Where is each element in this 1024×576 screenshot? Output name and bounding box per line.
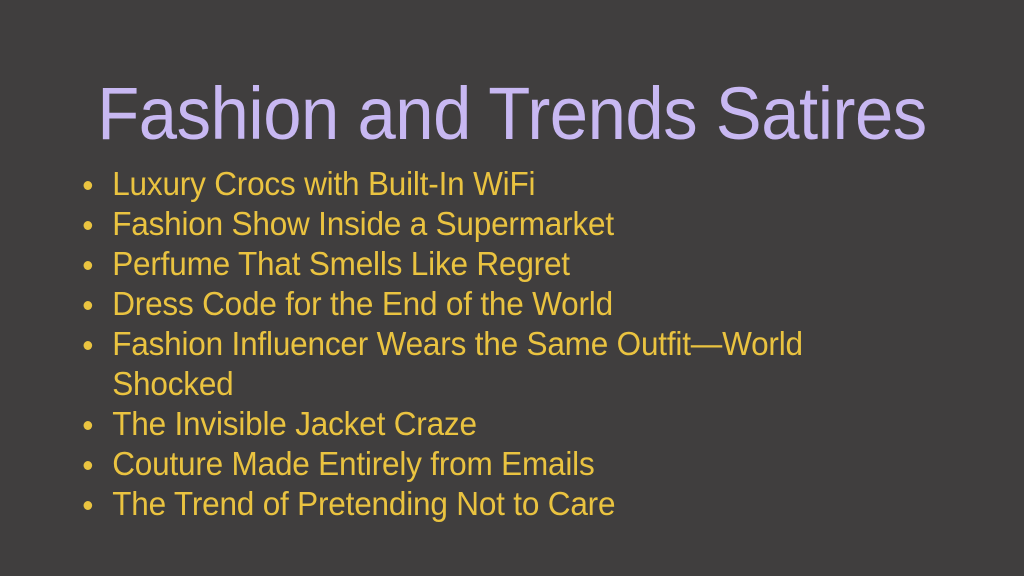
list-item: Luxury Crocs with Built-In WiFi: [74, 164, 924, 204]
bullet-dot-icon: [84, 341, 93, 350]
list-item-label: Fashion Show Inside a Supermarket: [112, 204, 924, 244]
list-item: Dress Code for the End of the World: [74, 284, 924, 324]
list-item-label: The Trend of Pretending Not to Care: [112, 484, 924, 524]
bullet-dot-icon: [84, 301, 93, 310]
bullet-dot-icon: [84, 221, 93, 230]
list-item: The Trend of Pretending Not to Care: [74, 484, 924, 524]
bullet-dot-icon: [84, 261, 93, 270]
list-item-label: Couture Made Entirely from Emails: [112, 444, 924, 484]
list-item-label: Perfume That Smells Like Regret: [112, 244, 924, 284]
list-item: Perfume That Smells Like Regret: [74, 244, 924, 284]
list-item: Fashion Show Inside a Supermarket: [74, 204, 924, 244]
list-item: Couture Made Entirely from Emails: [74, 444, 924, 484]
list-item-label: Dress Code for the End of the World: [112, 284, 924, 324]
list-item: Fashion Influencer Wears the Same Outfit…: [74, 324, 924, 404]
page-title: Fashion and Trends Satires: [36, 72, 988, 156]
bullet-dot-icon: [84, 461, 93, 470]
bullet-dot-icon: [84, 421, 93, 430]
list-item: The Invisible Jacket Craze: [74, 404, 924, 444]
bullet-dot-icon: [84, 181, 93, 190]
list-item-label: Luxury Crocs with Built-In WiFi: [112, 164, 924, 204]
list-item-label: The Invisible Jacket Craze: [112, 404, 924, 444]
bullet-dot-icon: [84, 501, 93, 510]
list-item-label: Fashion Influencer Wears the Same Outfit…: [112, 324, 924, 404]
presentation-slide: Fashion and Trends Satires Luxury Crocs …: [0, 0, 1024, 576]
bullet-list: Luxury Crocs with Built-In WiFi Fashion …: [74, 164, 964, 524]
